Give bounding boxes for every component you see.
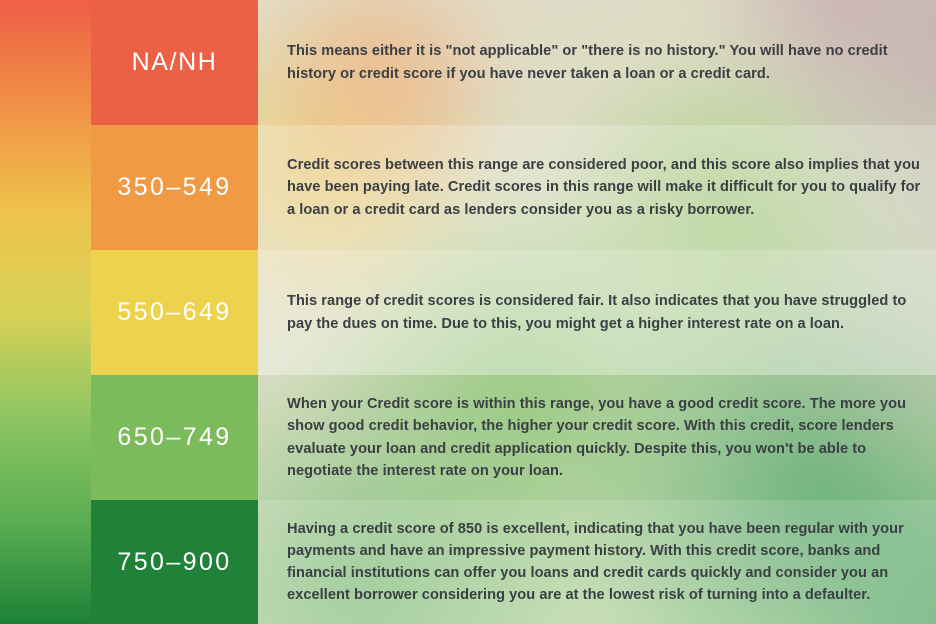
score-row: 350–549 Credit scores between this range… bbox=[0, 125, 936, 250]
score-range-swatch-2[interactable]: 350–549 bbox=[91, 125, 258, 250]
score-description-cell-1: This means either it is "not applicable"… bbox=[287, 0, 928, 125]
score-range-swatch-4[interactable]: 650–749 bbox=[91, 375, 258, 500]
score-range-label-2: 350–549 bbox=[117, 175, 231, 200]
score-description-2: Credit scores between this range are con… bbox=[287, 154, 928, 221]
score-range-label-1: NA/NH bbox=[132, 50, 218, 75]
score-description-4: When your Credit score is within this ra… bbox=[287, 393, 928, 482]
score-row: NA/NH This means either it is "not appli… bbox=[0, 0, 936, 125]
score-row: 750–900 Having a credit score of 850 is … bbox=[0, 500, 936, 624]
score-range-swatch-3[interactable]: 550–649 bbox=[91, 250, 258, 375]
score-description-cell-2: Credit scores between this range are con… bbox=[287, 125, 928, 250]
infographic-canvas: NA/NH This means either it is "not appli… bbox=[0, 0, 936, 624]
score-description-1: This means either it is "not applicable"… bbox=[287, 40, 928, 84]
score-description-5: Having a credit score of 850 is excellen… bbox=[287, 518, 928, 607]
score-range-label-3: 550–649 bbox=[117, 300, 231, 325]
score-row: 550–649 This range of credit scores is c… bbox=[0, 250, 936, 375]
score-range-swatch-1[interactable]: NA/NH bbox=[91, 0, 258, 125]
score-description-cell-5: Having a credit score of 850 is excellen… bbox=[287, 500, 928, 624]
score-description-3: This range of credit scores is considere… bbox=[287, 290, 928, 334]
score-range-label-4: 650–749 bbox=[117, 425, 231, 450]
score-description-cell-3: This range of credit scores is considere… bbox=[287, 250, 928, 375]
score-range-label-5: 750–900 bbox=[117, 550, 231, 575]
score-range-swatch-5[interactable]: 750–900 bbox=[91, 500, 258, 624]
score-description-cell-4: When your Credit score is within this ra… bbox=[287, 375, 928, 500]
score-row: 650–749 When your Credit score is within… bbox=[0, 375, 936, 500]
